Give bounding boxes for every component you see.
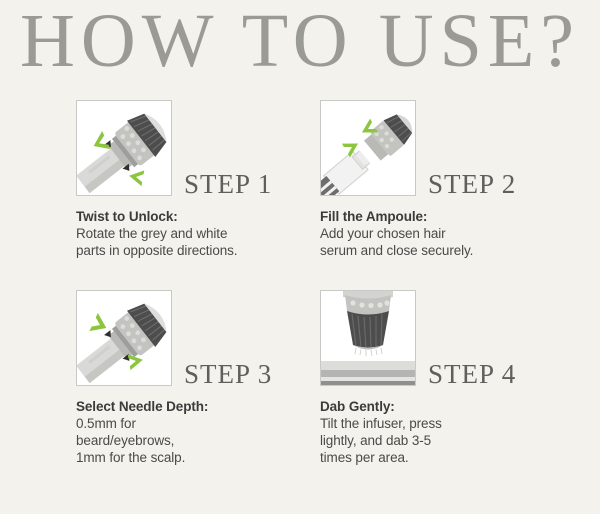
device-ampoule-open-icon bbox=[320, 100, 416, 196]
device-twist-unlock-icon bbox=[76, 100, 172, 196]
step-3-body: 0.5mm for beard/eyebrows, 1mm for the sc… bbox=[76, 415, 286, 466]
step-3-illustration-row: STEP 3 bbox=[76, 290, 326, 386]
step-4-body-line-3: times per area. bbox=[320, 449, 530, 466]
step-2-label: STEP 2 bbox=[428, 169, 516, 200]
step-4-body: Tilt the infuser, press lightly, and dab… bbox=[320, 415, 530, 466]
step-card-3: STEP 3 Select Needle Depth: 0.5mm for be… bbox=[76, 290, 326, 466]
step-3-body-line-2: beard/eyebrows, bbox=[76, 432, 286, 449]
step-1-caption: Twist to Unlock: Rotate the grey and whi… bbox=[76, 208, 286, 259]
step-3-caption: Select Needle Depth: 0.5mm for beard/eye… bbox=[76, 398, 286, 466]
step-3-label: STEP 3 bbox=[184, 359, 272, 390]
page-title: HOW TO USE? bbox=[0, 0, 600, 84]
step-2-heading: Fill the Ampoule: bbox=[320, 208, 530, 225]
step-1-illustration-row: STEP 1 bbox=[76, 100, 326, 196]
step-2-body-line-2: serum and close securely. bbox=[320, 242, 530, 259]
step-3-body-line-3: 1mm for the scalp. bbox=[76, 449, 286, 466]
step-card-1: STEP 1 Twist to Unlock: Rotate the grey … bbox=[76, 100, 326, 259]
step-4-label: STEP 4 bbox=[428, 359, 516, 390]
step-card-4: STEP 4 Dab Gently: Tilt the infuser, pre… bbox=[320, 290, 570, 466]
step-1-label: STEP 1 bbox=[184, 169, 272, 200]
step-4-body-line-1: Tilt the infuser, press bbox=[320, 415, 530, 432]
step-4-heading: Dab Gently: bbox=[320, 398, 530, 415]
step-2-caption: Fill the Ampoule: Add your chosen hair s… bbox=[320, 208, 530, 259]
step-2-body: Add your chosen hair serum and close sec… bbox=[320, 225, 530, 259]
step-3-heading: Select Needle Depth: bbox=[76, 398, 286, 415]
step-3-body-line-1: 0.5mm for bbox=[76, 415, 286, 432]
step-4-body-line-2: lightly, and dab 3-5 bbox=[320, 432, 530, 449]
step-4-caption: Dab Gently: Tilt the infuser, press ligh… bbox=[320, 398, 530, 466]
step-1-heading: Twist to Unlock: bbox=[76, 208, 286, 225]
device-needle-depth-icon bbox=[76, 290, 172, 386]
step-1-body-line-2: parts in opposite directions. bbox=[76, 242, 286, 259]
how-to-use-infographic: HOW TO USE? bbox=[0, 0, 600, 514]
step-2-body-line-1: Add your chosen hair bbox=[320, 225, 530, 242]
step-4-illustration-row: STEP 4 bbox=[320, 290, 570, 386]
step-1-body: Rotate the grey and white parts in oppos… bbox=[76, 225, 286, 259]
device-dab-skin-icon bbox=[320, 290, 416, 386]
step-card-2: STEP 2 Fill the Ampoule: Add your chosen… bbox=[320, 100, 570, 259]
step-1-body-line-1: Rotate the grey and white bbox=[76, 225, 286, 242]
step-2-illustration-row: STEP 2 bbox=[320, 100, 570, 196]
